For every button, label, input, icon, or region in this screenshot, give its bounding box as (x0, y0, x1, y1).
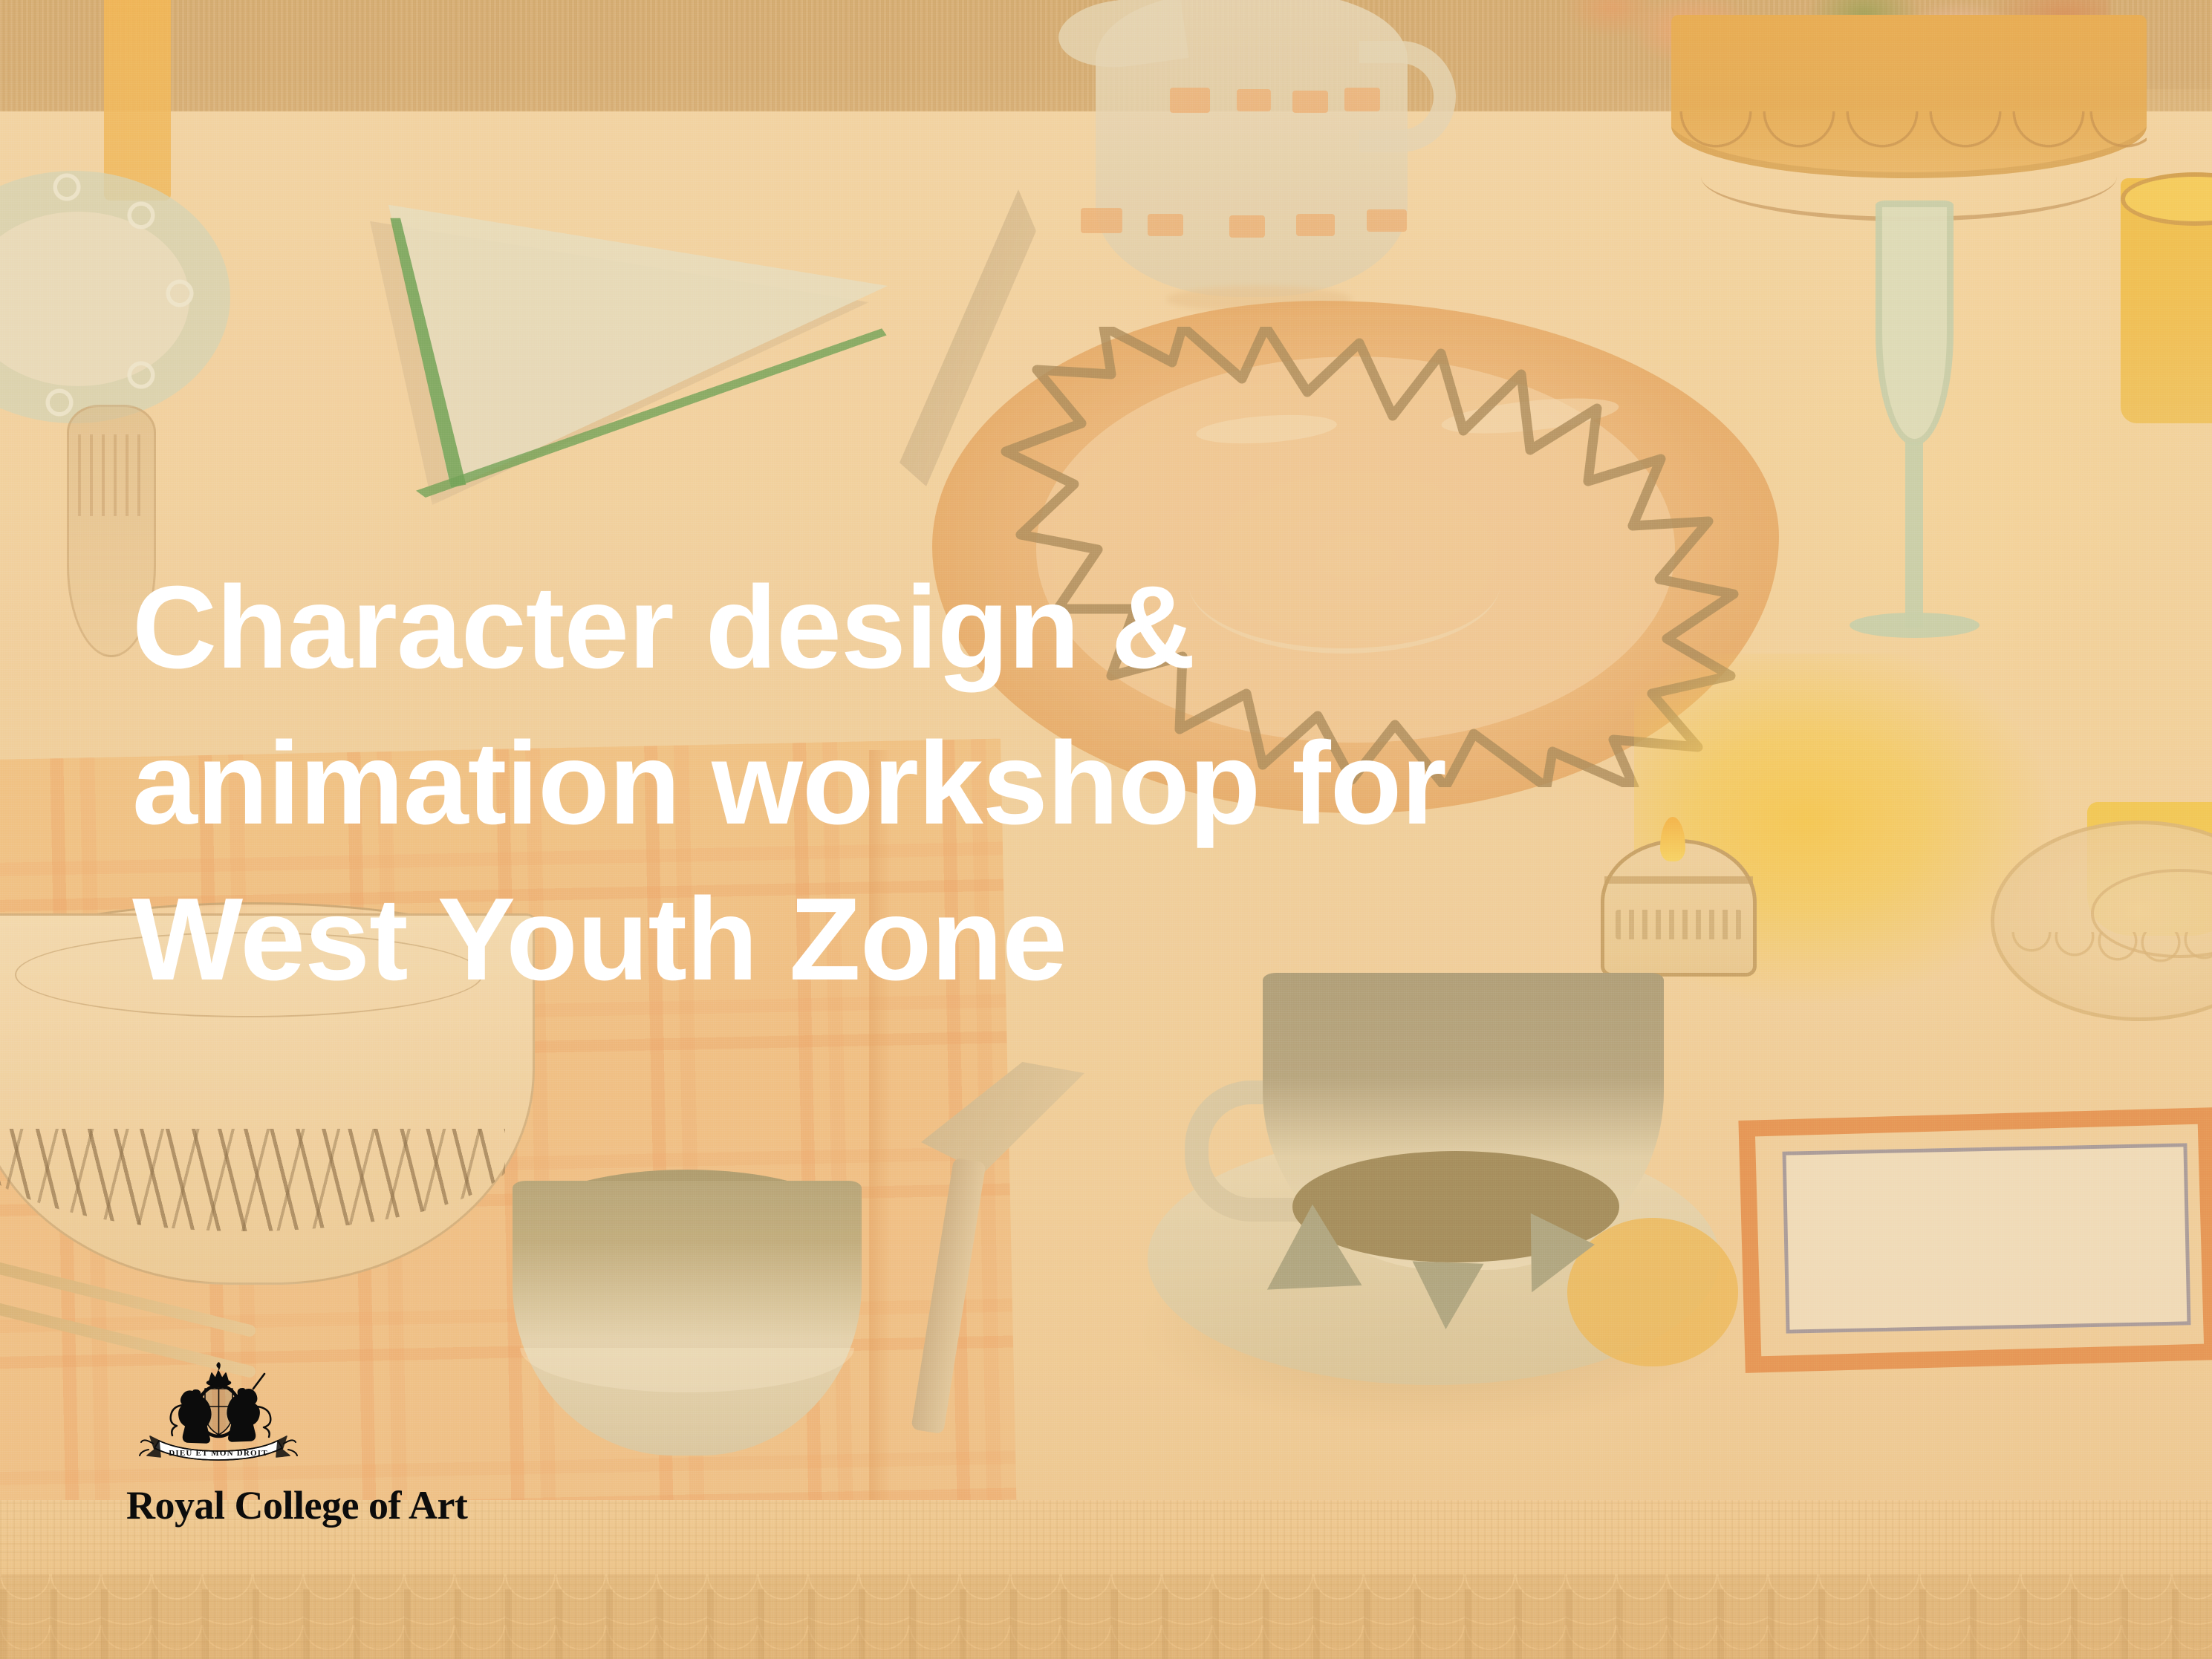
jug-dash-3 (1292, 91, 1328, 113)
jug-dash-5 (1081, 208, 1122, 233)
slide-title: Character design & animation workshop fo… (132, 550, 1915, 1017)
jug-dash-4 (1344, 88, 1380, 111)
jug-dash-6 (1148, 214, 1183, 236)
rca-logo: DIEU ET MON DROIT Royal College of Art (126, 1360, 475, 1528)
mirror-handle-ribbing (78, 434, 146, 516)
jug-dash-8 (1296, 214, 1335, 236)
svg-text:DIEU ET MON DROIT: DIEU ET MON DROIT (169, 1449, 268, 1458)
egg-yolk-shape (1567, 1218, 1738, 1366)
royal-coat-of-arms-icon: DIEU ET MON DROIT (138, 1360, 298, 1472)
rca-wordmark: Royal College of Art (126, 1482, 475, 1528)
picture-frame-inner-border (1782, 1143, 2190, 1333)
champagne-flute-bowl (1876, 201, 1954, 446)
saucer-triangle-2 (1410, 1261, 1483, 1330)
jug-dash-2 (1237, 89, 1271, 111)
jug-dash-1 (1170, 88, 1210, 113)
slide-canvas: Character design & animation workshop fo… (0, 0, 2212, 1659)
woven-basket-scallop-edge (2006, 932, 2212, 1014)
orange-post-illustration (104, 0, 171, 201)
lace-dot-pattern (0, 1589, 2212, 1659)
jug-dash-7 (1229, 215, 1265, 238)
jug-dash-9 (1367, 209, 1407, 232)
